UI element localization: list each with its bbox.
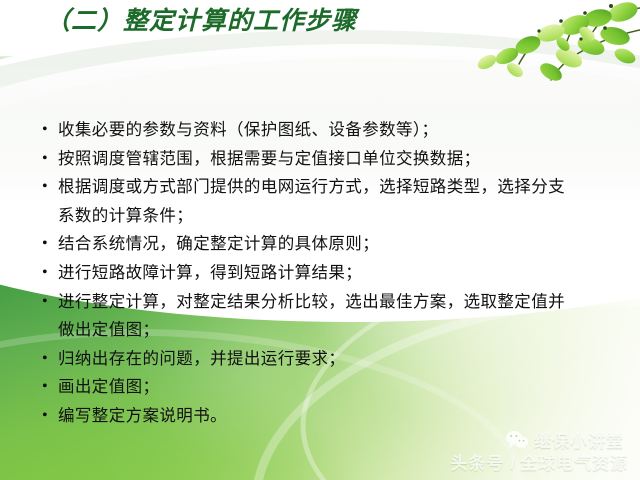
- list-item-text: 根据调度或方式部门提供的电网运行方式，选择短路类型，选择分支 系数的计算条件；: [58, 173, 615, 230]
- bullet-marker: •: [30, 345, 58, 374]
- bullet-marker: •: [30, 288, 58, 317]
- list-item-text: 归纳出存在的问题，并提出运行要求；: [58, 345, 615, 374]
- list-item-text: 画出定值图；: [58, 373, 615, 402]
- bullet-marker: •: [30, 373, 58, 402]
- list-item-line: 进行整定计算，对整定结果分析比较，选出最佳方案，选取整定值并: [58, 288, 615, 317]
- list-item: • 根据调度或方式部门提供的电网运行方式，选择短路类型，选择分支 系数的计算条件…: [30, 173, 615, 230]
- toutiao-account-name: 全球电气资源: [520, 449, 628, 474]
- presentation-slide: （二）整定计算的工作步骤 • 收集必要的参数与资料（保护图纸、设备参数等）； •…: [0, 0, 640, 480]
- list-item: • 进行整定计算，对整定结果分析比较，选出最佳方案，选取整定值并 做出定值图；: [30, 288, 615, 345]
- bullet-marker: •: [30, 402, 58, 431]
- bullet-marker: •: [30, 173, 58, 202]
- bullet-marker: •: [30, 259, 58, 288]
- slide-title: （二）整定计算的工作步骤: [45, 6, 357, 38]
- list-item-text: 进行整定计算，对整定结果分析比较，选出最佳方案，选取整定值并 做出定值图；: [58, 288, 615, 345]
- list-item: • 归纳出存在的问题，并提出运行要求；: [30, 345, 615, 374]
- list-item: • 收集必要的参数与资料（保护图纸、设备参数等）；: [30, 116, 615, 145]
- list-item-line-wrap: 做出定值图；: [58, 316, 615, 345]
- list-item-text: 收集必要的参数与资料（保护图纸、设备参数等）；: [58, 116, 615, 145]
- list-item-line-wrap: 系数的计算条件；: [58, 202, 615, 231]
- list-item-text: 结合系统情况，确定整定计算的具体原则；: [58, 230, 615, 259]
- list-item-text: 按照调度管辖范围，根据需要与定值接口单位交换数据；: [58, 145, 615, 174]
- slide-body-list: • 收集必要的参数与资料（保护图纸、设备参数等）； • 按照调度管辖范围，根据需…: [30, 116, 615, 431]
- toutiao-label: 头条号 /: [451, 449, 516, 474]
- list-item: • 画出定值图；: [30, 373, 615, 402]
- bullet-marker: •: [30, 116, 58, 145]
- wechat-icon: [505, 430, 529, 449]
- toutiao-watermark: 头条号 / 全球电气资源: [451, 449, 628, 474]
- list-item-line: 根据调度或方式部门提供的电网运行方式，选择短路类型，选择分支: [58, 173, 615, 202]
- bullet-marker: •: [30, 145, 58, 174]
- bullet-marker: •: [30, 230, 58, 259]
- list-item: • 进行短路故障计算，得到短路计算结果；: [30, 259, 615, 288]
- list-item: • 结合系统情况，确定整定计算的具体原则；: [30, 230, 615, 259]
- leaves-decoration: [465, 0, 640, 96]
- list-item: • 按照调度管辖范围，根据需要与定值接口单位交换数据；: [30, 145, 615, 174]
- list-item-text: 进行短路故障计算，得到短路计算结果；: [58, 259, 615, 288]
